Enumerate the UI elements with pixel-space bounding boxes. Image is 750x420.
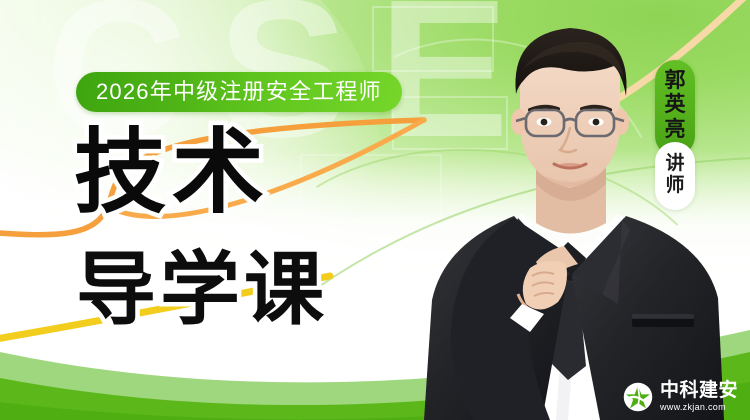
instructor-role-char: 师 [665,175,684,197]
instructor-name-pill: 郭 英 亮 讲 师 [655,60,695,210]
instructor-name-char: 亮 [665,118,686,142]
brand-url: www.zkjan.com [660,403,738,412]
instructor-name-char: 英 [665,93,686,117]
course-category-badge[interactable]: 2026年中级注册安全工程师 [76,72,402,112]
instructor-role-char: 讲 [665,153,684,175]
title-line-2: 导学课 [76,250,328,330]
poster-title: 技术 导学课 [74,128,270,218]
instructor-role-block: 讲 师 [655,142,695,210]
instructor-name-char: 郭 [665,69,686,93]
star-circle-icon [623,382,653,412]
brand-name: 中科建安 [660,381,738,400]
title-line-1: 技术 [74,128,270,218]
course-poster: CSE [0,0,750,420]
brand-logo[interactable]: 中科建安 www.zkjan.com [623,381,738,412]
brand-text: 中科建安 www.zkjan.com [660,381,738,412]
badge-label: 2026年中级注册安全工程师 [96,81,382,103]
